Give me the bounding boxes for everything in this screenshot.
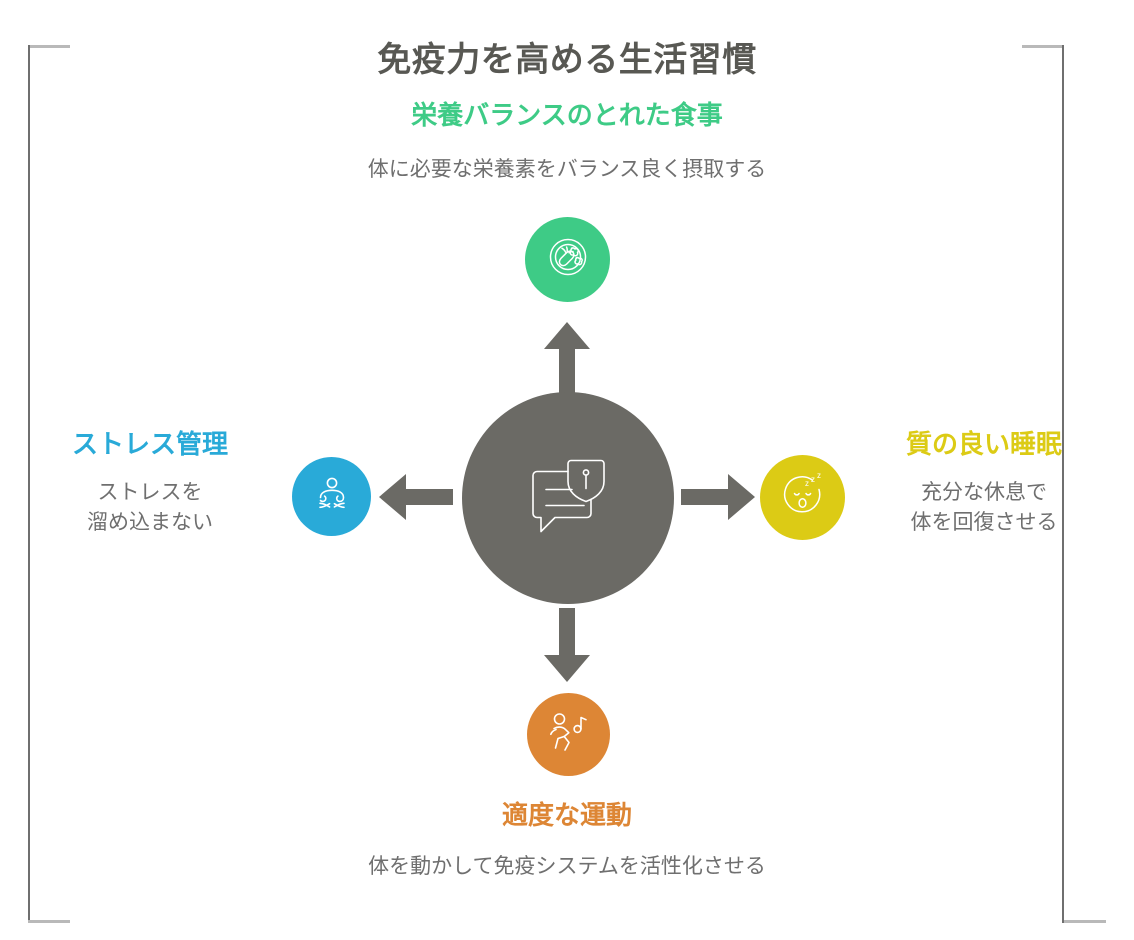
category-icon-badge-sleep[interactable]: z z z	[760, 455, 845, 540]
plate-vegetables-icon	[543, 232, 593, 287]
central-hub	[462, 392, 674, 604]
arrow-left-icon	[379, 474, 453, 525]
arrow-up-icon	[544, 322, 590, 401]
speech-bubble-shield-icon	[518, 446, 618, 551]
category-title-stress: ストレス管理	[24, 424, 276, 461]
category-icon-badge-exercise[interactable]	[527, 693, 610, 776]
category-icon-badge-nutrition[interactable]	[525, 217, 610, 302]
category-description-stress: ストレスを 溜め込まない	[24, 478, 276, 538]
frame-bracket-bottom-left-foot	[28, 920, 70, 923]
frame-bracket-bottom-right-foot	[1064, 920, 1106, 923]
meditating-person-icon	[311, 473, 353, 520]
sleeping-face-zzz-icon: z z z	[777, 469, 829, 526]
category-title-exercise: 適度な運動	[0, 795, 1134, 832]
category-description-nutrition: 体に必要な栄養素をバランス良く摂取する	[0, 155, 1134, 185]
arrow-down-icon	[544, 608, 590, 687]
category-title-sleep: 質の良い睡眠	[858, 424, 1110, 461]
category-icon-badge-stress[interactable]	[292, 457, 371, 536]
page-title: 免疫力を高める生活習慣	[0, 32, 1134, 81]
arrow-right-icon	[681, 474, 755, 525]
category-description-exercise: 体を動かして免疫システムを活性化させる	[0, 852, 1134, 882]
svg-text:z: z	[817, 471, 821, 480]
svg-text:z: z	[805, 479, 809, 488]
running-person-music-note-icon	[544, 707, 594, 762]
infographic-canvas: 免疫力を高める生活習慣 栄養バランスのとれた食事 体に必要な栄養素をバランス良く…	[0, 0, 1134, 940]
category-description-sleep: 充分な休息で 体を回復させる	[858, 478, 1110, 538]
svg-text:z: z	[811, 475, 815, 484]
category-title-nutrition: 栄養バランスのとれた食事	[0, 95, 1134, 132]
